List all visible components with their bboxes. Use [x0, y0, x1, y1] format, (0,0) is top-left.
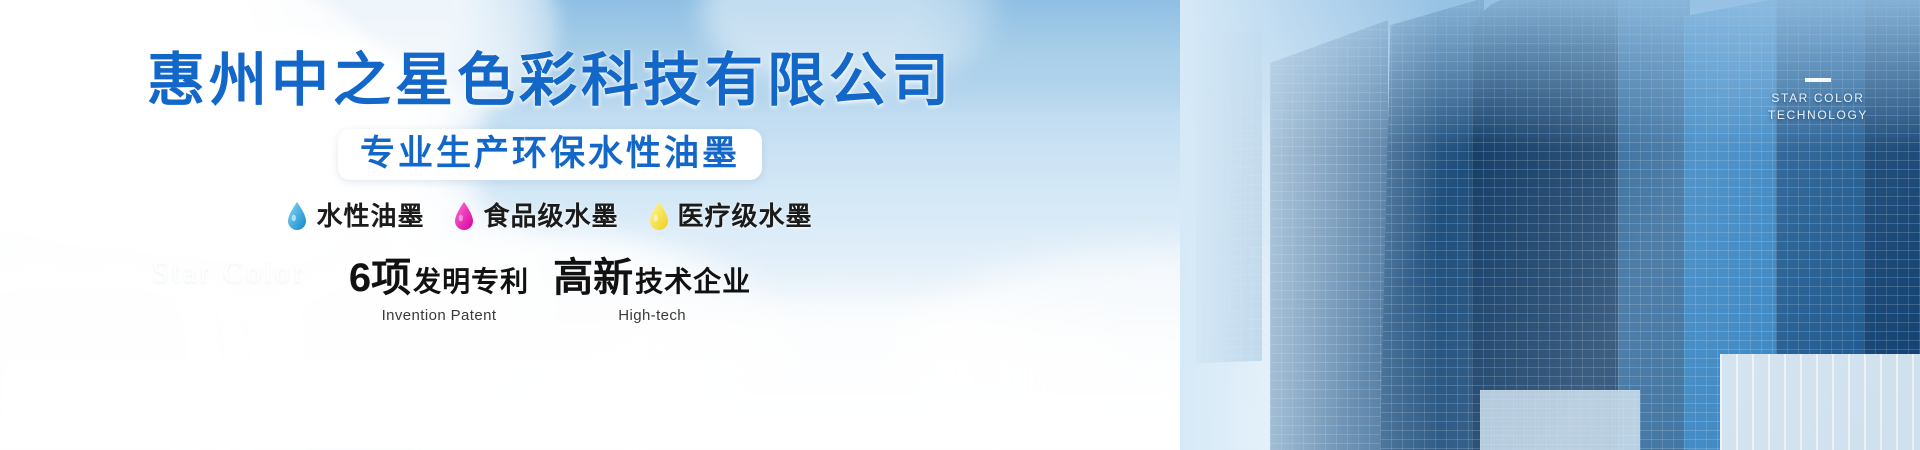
water-drop-icon — [287, 202, 307, 230]
badge-headline: 6项 发明专利 — [349, 258, 529, 298]
badge-big-text: 6项 — [349, 258, 411, 298]
building-shape — [1380, 0, 1484, 450]
brand-mark-line1: STAR COLOR — [1768, 90, 1868, 107]
badge-item: 高新 技术企业 High-tech — [553, 258, 751, 324]
feature-list: 水性油墨 食品级水墨 — [287, 202, 812, 230]
badge-headline: 高新 技术企业 — [553, 258, 751, 298]
company-title: 惠州中之星色彩科技有限公司 — [147, 52, 953, 110]
subtitle-pill: 专业生产环保水性油墨 — [338, 129, 762, 180]
brand-mark-bar — [1805, 78, 1831, 82]
brand-mark: STAR COLOR TECHNOLOGY — [1768, 78, 1868, 125]
building-shape — [1480, 390, 1640, 450]
feature-item: 医疗级水墨 — [649, 202, 813, 230]
badge-item: 6项 发明专利 Invention Patent — [349, 258, 529, 324]
water-drop-icon — [454, 202, 474, 230]
badge-small-text: 发明专利 — [413, 268, 529, 296]
building-shape — [1270, 20, 1388, 450]
badge-small-text: 技术企业 — [635, 268, 751, 296]
feature-item: 水性油墨 — [287, 202, 424, 230]
building-shape — [1196, 31, 1262, 364]
brand-mark-line2: TECHNOLOGY — [1768, 107, 1868, 124]
subtitle-text: 专业生产环保水性油墨 — [360, 134, 740, 173]
building-shape — [1618, 0, 1690, 450]
building-shape — [1472, 0, 1622, 450]
feature-item: 食品级水墨 — [454, 202, 618, 230]
feature-label: 食品级水墨 — [483, 203, 618, 229]
feature-label: 医疗级水墨 — [678, 203, 813, 229]
banner-content: 惠州中之星色彩科技有限公司 专业生产环保水性油墨 水性油墨 — [0, 0, 1100, 450]
badge-english-label: High-tech — [553, 307, 751, 324]
city-skyline-image: STAR COLOR TECHNOLOGY — [1180, 0, 1920, 450]
badge-big-text: 高新 — [553, 258, 633, 298]
hero-banner: Star Color STAR COLOR TECHNOLOGY 惠州中之星色彩… — [0, 0, 1920, 450]
feature-label: 水性油墨 — [316, 203, 424, 229]
building-shape — [1720, 354, 1920, 450]
badge-english-label: Invention Patent — [349, 307, 529, 324]
water-drop-icon — [649, 202, 669, 230]
badge-list: 6项 发明专利 Invention Patent 高新 技术企业 High-te… — [349, 258, 751, 324]
